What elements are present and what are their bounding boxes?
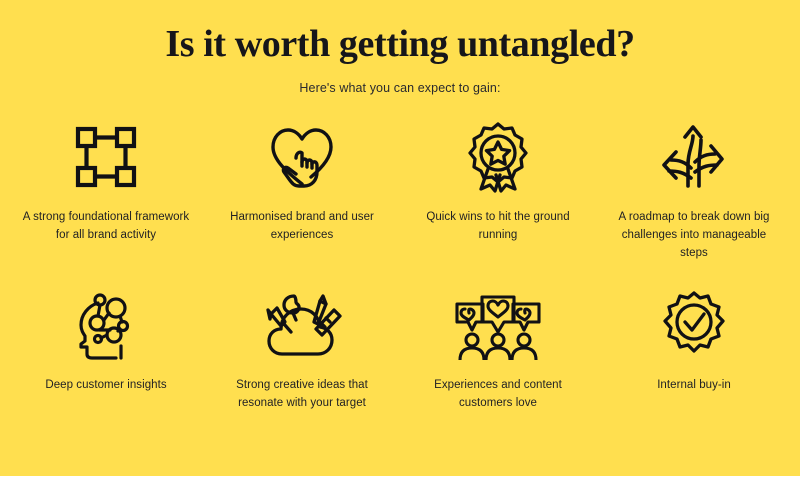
framework-squares-icon — [70, 120, 142, 194]
page-title: Is it worth getting untangled? — [0, 22, 800, 66]
benefit-item-internal-buyin: Internal buy-in — [596, 290, 792, 412]
benefit-caption: Harmonised brand and user experiences — [218, 208, 386, 244]
benefit-caption: Internal buy-in — [657, 376, 731, 394]
heart-cursor-icon — [265, 120, 339, 194]
award-rosette-star-icon — [462, 120, 534, 194]
slide-canvas: Is it worth getting untangled? Here's wh… — [0, 0, 800, 476]
benefit-item-quick-wins: Quick wins to hit the ground running — [400, 120, 596, 262]
head-network-brain-icon — [68, 290, 144, 362]
benefit-caption: Experiences and content customers love — [414, 376, 582, 412]
slide-header: Is it worth getting untangled? Here's wh… — [0, 22, 800, 96]
benefit-item-experiences-content: Experiences and content customers love — [400, 290, 596, 412]
benefit-item-harmonised-brand: Harmonised brand and user experiences — [204, 120, 400, 262]
branching-arrows-roadmap-icon — [657, 120, 731, 194]
people-heart-speech-bubbles-icon — [452, 290, 544, 362]
benefit-item-creative-ideas: Strong creative ideas that resonate with… — [204, 290, 400, 412]
badge-checkmark-seal-icon — [659, 290, 729, 362]
benefit-item-roadmap: A roadmap to break down big challenges i… — [596, 120, 792, 262]
benefit-caption: Strong creative ideas that resonate with… — [218, 376, 386, 412]
benefits-grid: A strong foundational framework for all … — [8, 120, 792, 412]
benefit-item-framework: A strong foundational framework for all … — [8, 120, 204, 262]
page-subtitle: Here's what you can expect to gain: — [0, 80, 800, 96]
benefit-caption: Quick wins to hit the ground running — [414, 208, 582, 244]
benefit-caption: A roadmap to break down big challenges i… — [610, 208, 778, 262]
benefit-caption: Deep customer insights — [45, 376, 166, 394]
benefit-caption: A strong foundational framework for all … — [22, 208, 190, 244]
bottom-white-strip — [0, 476, 800, 480]
cloud-creative-tools-icon — [260, 290, 344, 362]
benefit-item-customer-insights: Deep customer insights — [8, 290, 204, 412]
